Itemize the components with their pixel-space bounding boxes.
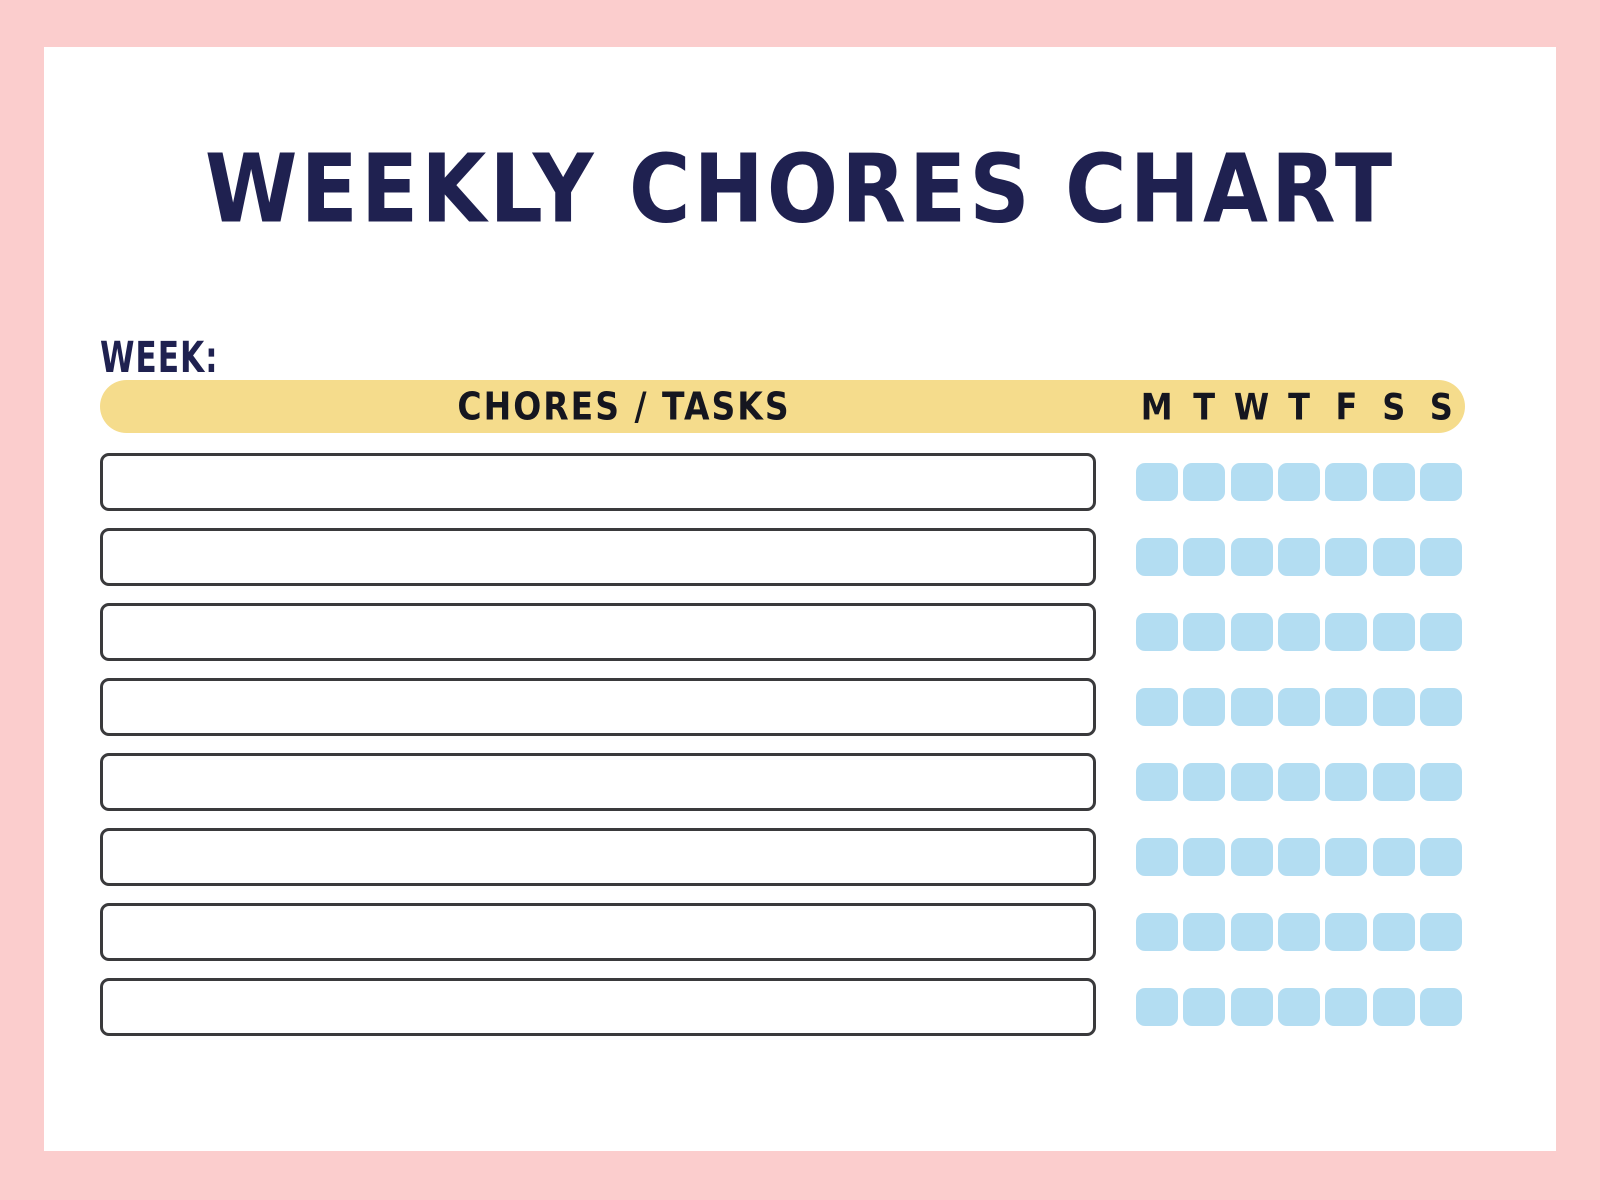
day-checkbox-group <box>1133 683 1465 731</box>
check-cell-0 <box>1133 688 1180 726</box>
day-checkbox[interactable] <box>1183 838 1225 876</box>
day-checkbox[interactable] <box>1420 613 1462 651</box>
check-cell-2 <box>1228 763 1275 801</box>
chore-row <box>100 528 1465 603</box>
day-checkbox[interactable] <box>1183 763 1225 801</box>
day-checkbox[interactable] <box>1136 763 1178 801</box>
check-cell-4 <box>1323 463 1370 501</box>
day-checkbox[interactable] <box>1325 763 1367 801</box>
day-checkbox[interactable] <box>1373 988 1415 1026</box>
task-input[interactable] <box>100 828 1096 886</box>
day-checkbox[interactable] <box>1183 988 1225 1026</box>
day-checkbox-group <box>1133 458 1465 506</box>
check-cell-2 <box>1228 688 1275 726</box>
task-input[interactable] <box>100 903 1096 961</box>
check-cell-1 <box>1180 838 1227 876</box>
chore-row <box>100 603 1465 678</box>
check-cell-2 <box>1228 838 1275 876</box>
check-cell-2 <box>1228 988 1275 1026</box>
day-checkbox[interactable] <box>1373 838 1415 876</box>
day-checkbox[interactable] <box>1183 688 1225 726</box>
chore-row <box>100 978 1465 1053</box>
day-header-6: S <box>1418 385 1465 429</box>
check-cell-4 <box>1323 838 1370 876</box>
day-checkbox[interactable] <box>1231 913 1273 951</box>
check-cell-0 <box>1133 463 1180 501</box>
day-checkbox[interactable] <box>1183 613 1225 651</box>
check-cell-1 <box>1180 538 1227 576</box>
day-checkbox[interactable] <box>1325 613 1367 651</box>
table-header-bar: CHORES / TASKS MTWTFSS <box>100 380 1465 433</box>
day-checkbox-group <box>1133 908 1465 956</box>
check-cell-4 <box>1323 613 1370 651</box>
day-checkbox[interactable] <box>1278 688 1320 726</box>
task-input[interactable] <box>100 978 1096 1036</box>
check-cell-5 <box>1370 688 1417 726</box>
day-checkbox[interactable] <box>1278 988 1320 1026</box>
check-cell-0 <box>1133 763 1180 801</box>
chore-row <box>100 903 1465 978</box>
day-header-5: S <box>1370 385 1417 429</box>
day-checkbox[interactable] <box>1325 988 1367 1026</box>
day-checkbox[interactable] <box>1420 913 1462 951</box>
check-cell-5 <box>1370 538 1417 576</box>
day-checkbox[interactable] <box>1136 538 1178 576</box>
day-checkbox[interactable] <box>1325 838 1367 876</box>
check-cell-0 <box>1133 613 1180 651</box>
day-checkbox[interactable] <box>1373 913 1415 951</box>
check-cell-6 <box>1418 463 1465 501</box>
day-checkbox[interactable] <box>1136 988 1178 1026</box>
check-cell-6 <box>1418 838 1465 876</box>
day-checkbox[interactable] <box>1136 613 1178 651</box>
day-column-headers: MTWTFSS <box>1133 380 1465 433</box>
task-input[interactable] <box>100 453 1096 511</box>
check-cell-1 <box>1180 988 1227 1026</box>
check-cell-4 <box>1323 763 1370 801</box>
day-checkbox[interactable] <box>1231 688 1273 726</box>
check-cell-3 <box>1275 763 1322 801</box>
chores-tasks-column-header: CHORES / TASKS <box>100 376 1148 437</box>
check-cell-6 <box>1418 913 1465 951</box>
check-cell-4 <box>1323 988 1370 1026</box>
task-input[interactable] <box>100 753 1096 811</box>
chore-row <box>100 453 1465 528</box>
day-header-1: T <box>1180 385 1227 429</box>
check-cell-2 <box>1228 613 1275 651</box>
day-checkbox[interactable] <box>1231 463 1273 501</box>
check-cell-0 <box>1133 538 1180 576</box>
day-checkbox[interactable] <box>1373 688 1415 726</box>
day-checkbox[interactable] <box>1231 838 1273 876</box>
check-cell-0 <box>1133 913 1180 951</box>
day-header-4: F <box>1323 385 1370 429</box>
check-cell-6 <box>1418 613 1465 651</box>
day-header-3: T <box>1275 385 1322 429</box>
task-input[interactable] <box>100 678 1096 736</box>
day-checkbox[interactable] <box>1325 913 1367 951</box>
page-title: WEEKLY CHORES CHART <box>44 142 1556 236</box>
day-checkbox-group <box>1133 608 1465 656</box>
day-checkbox-group <box>1133 758 1465 806</box>
check-cell-5 <box>1370 838 1417 876</box>
day-checkbox[interactable] <box>1231 763 1273 801</box>
chore-row <box>100 753 1465 828</box>
chore-row <box>100 678 1465 753</box>
day-checkbox[interactable] <box>1373 613 1415 651</box>
day-checkbox[interactable] <box>1420 988 1462 1026</box>
day-checkbox[interactable] <box>1183 538 1225 576</box>
day-checkbox[interactable] <box>1183 463 1225 501</box>
day-header-0: M <box>1133 385 1180 429</box>
check-cell-1 <box>1180 763 1227 801</box>
check-cell-4 <box>1323 688 1370 726</box>
day-checkbox[interactable] <box>1420 463 1462 501</box>
check-cell-6 <box>1418 763 1465 801</box>
chore-row <box>100 828 1465 903</box>
day-checkbox[interactable] <box>1325 538 1367 576</box>
task-input[interactable] <box>100 603 1096 661</box>
check-cell-1 <box>1180 913 1227 951</box>
check-cell-4 <box>1323 538 1370 576</box>
check-cell-5 <box>1370 988 1417 1026</box>
chore-rows <box>100 453 1465 1053</box>
check-cell-5 <box>1370 463 1417 501</box>
day-checkbox[interactable] <box>1420 688 1462 726</box>
check-cell-3 <box>1275 463 1322 501</box>
check-cell-0 <box>1133 838 1180 876</box>
chart-sheet: WEEKLY CHORES CHART WEEK: CHORES / TASKS… <box>44 47 1556 1151</box>
day-checkbox[interactable] <box>1136 913 1178 951</box>
day-checkbox[interactable] <box>1136 688 1178 726</box>
day-checkbox[interactable] <box>1325 688 1367 726</box>
day-checkbox[interactable] <box>1278 538 1320 576</box>
day-checkbox[interactable] <box>1278 463 1320 501</box>
check-cell-2 <box>1228 463 1275 501</box>
check-cell-3 <box>1275 538 1322 576</box>
day-checkbox-group <box>1133 983 1465 1031</box>
day-checkbox[interactable] <box>1231 538 1273 576</box>
check-cell-2 <box>1228 538 1275 576</box>
day-checkbox[interactable] <box>1231 988 1273 1026</box>
check-cell-1 <box>1180 688 1227 726</box>
day-checkbox[interactable] <box>1231 613 1273 651</box>
check-cell-3 <box>1275 988 1322 1026</box>
check-cell-1 <box>1180 463 1227 501</box>
task-input[interactable] <box>100 528 1096 586</box>
day-checkbox[interactable] <box>1420 838 1462 876</box>
day-checkbox[interactable] <box>1278 763 1320 801</box>
check-cell-5 <box>1370 613 1417 651</box>
pink-page-frame: WEEKLY CHORES CHART WEEK: CHORES / TASKS… <box>0 0 1600 1200</box>
day-checkbox[interactable] <box>1373 538 1415 576</box>
check-cell-5 <box>1370 763 1417 801</box>
day-checkbox-group <box>1133 533 1465 581</box>
check-cell-0 <box>1133 988 1180 1026</box>
day-checkbox[interactable] <box>1278 913 1320 951</box>
check-cell-6 <box>1418 688 1465 726</box>
check-cell-3 <box>1275 613 1322 651</box>
check-cell-3 <box>1275 913 1322 951</box>
day-checkbox[interactable] <box>1278 838 1320 876</box>
check-cell-3 <box>1275 838 1322 876</box>
day-checkbox[interactable] <box>1373 463 1415 501</box>
day-checkbox[interactable] <box>1183 913 1225 951</box>
day-checkbox[interactable] <box>1136 463 1178 501</box>
day-checkbox-group <box>1133 833 1465 881</box>
check-cell-1 <box>1180 613 1227 651</box>
check-cell-4 <box>1323 913 1370 951</box>
check-cell-6 <box>1418 538 1465 576</box>
day-checkbox[interactable] <box>1278 613 1320 651</box>
check-cell-2 <box>1228 913 1275 951</box>
day-checkbox[interactable] <box>1136 838 1178 876</box>
check-cell-3 <box>1275 688 1322 726</box>
day-checkbox[interactable] <box>1325 463 1367 501</box>
day-header-2: W <box>1228 385 1275 429</box>
check-cell-5 <box>1370 913 1417 951</box>
day-checkbox[interactable] <box>1420 538 1462 576</box>
check-cell-6 <box>1418 988 1465 1026</box>
day-checkbox[interactable] <box>1420 763 1462 801</box>
day-checkbox[interactable] <box>1373 763 1415 801</box>
